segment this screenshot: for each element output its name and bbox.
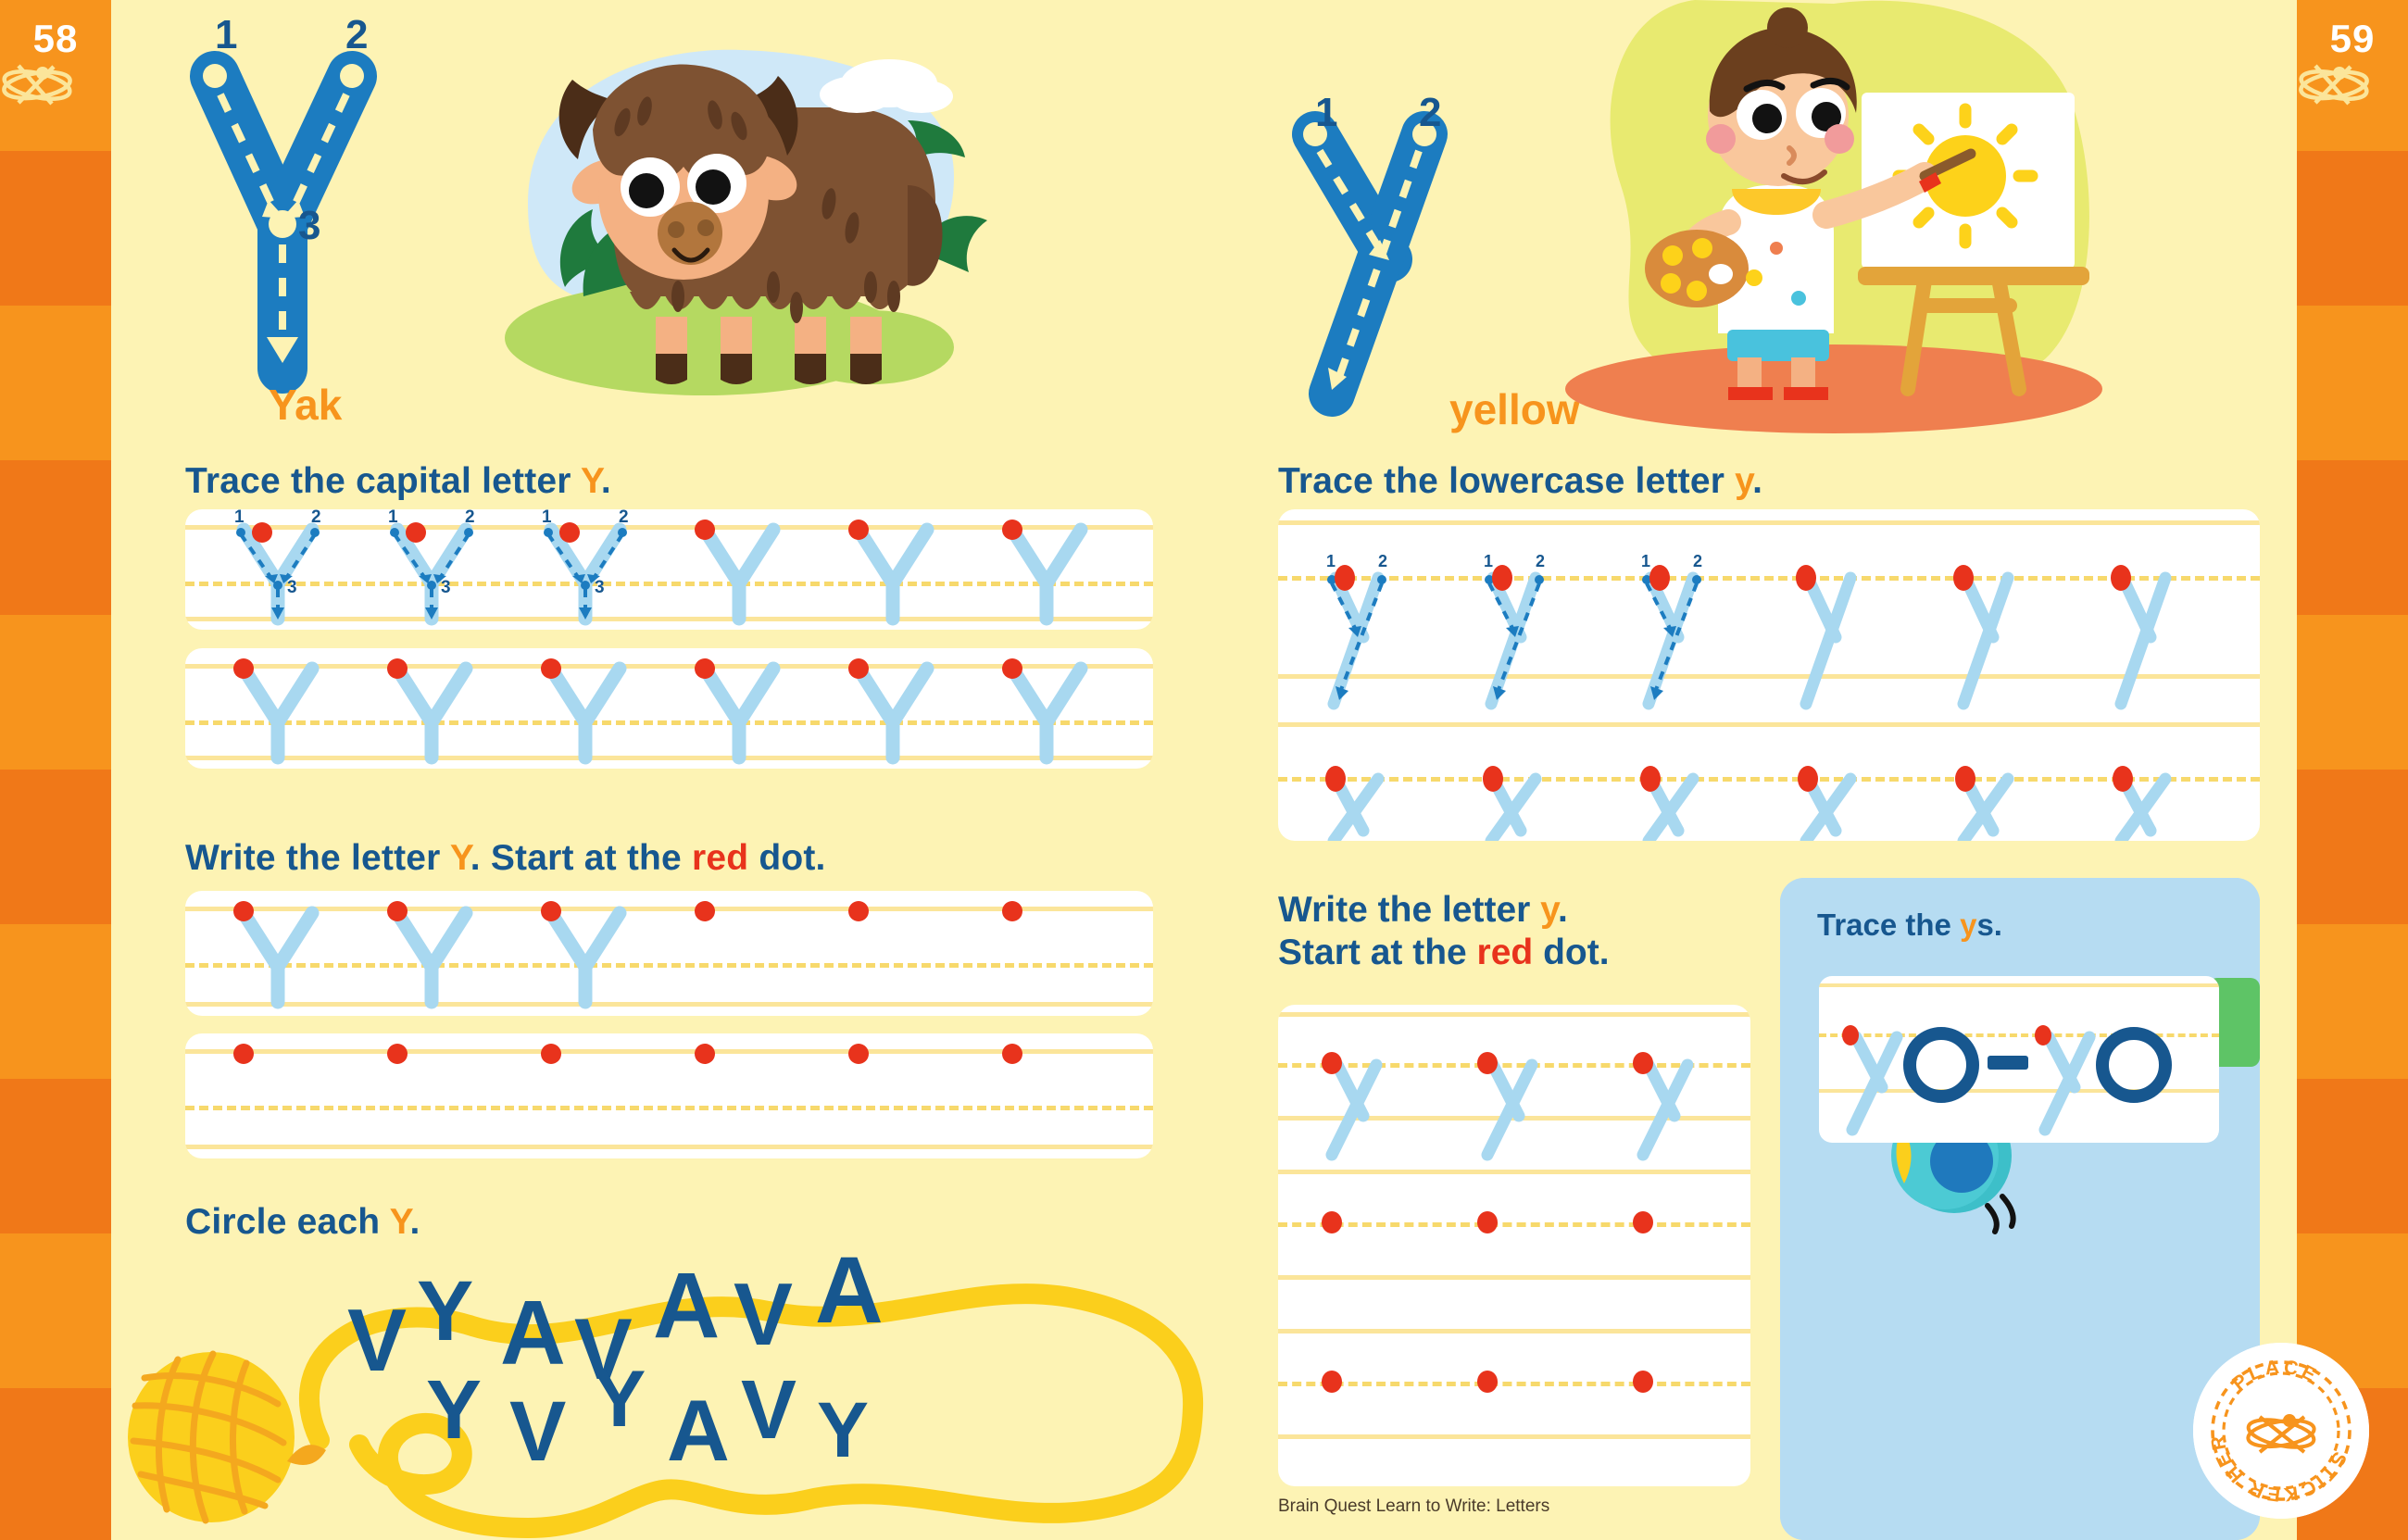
instruction-red-word: red <box>1477 933 1534 972</box>
instruction-letter: y <box>1540 890 1558 930</box>
puzzle-letter[interactable]: V <box>734 1271 793 1359</box>
page-number-left: 58 <box>0 17 111 61</box>
instruction-trace-ys: Trace the ys. <box>1817 908 2002 943</box>
left-edge-stripes: 58 <box>0 0 111 1540</box>
svg-text:3: 3 <box>441 578 451 597</box>
instruction-text-b: . Start at the <box>470 838 692 878</box>
illustration-boy-painting <box>1556 0 2112 435</box>
stroke-number-1: 1 <box>215 15 237 56</box>
puzzle-letter[interactable]: Y <box>817 1391 869 1469</box>
svg-text:2: 2 <box>465 509 475 527</box>
page-number-right: 59 <box>2297 17 2408 61</box>
instruction-text-d: dot. <box>1533 933 1609 972</box>
svg-text:3: 3 <box>287 578 297 597</box>
instruction-text-a: Write the letter <box>1278 890 1540 930</box>
brain-quest-star-logo <box>0 57 111 111</box>
instruction-text-b: . <box>1558 890 1568 930</box>
svg-text:1: 1 <box>1641 552 1650 570</box>
instruction-letter: Y <box>581 461 601 501</box>
instruction-text-a: Write the letter <box>185 838 450 878</box>
instruction-line-2: Start at the red dot. <box>1278 932 1610 974</box>
instruction-write-capital: Write the letter Y. Start at the red dot… <box>185 838 826 879</box>
brain-quest-star-logo <box>2297 57 2408 111</box>
instruction-write-lowercase: Write the letter y. Start at the red dot… <box>1278 889 1610 973</box>
panel-trace-ys: Trace the ys. <box>1780 878 2260 1540</box>
instruction-red-word: red <box>692 838 748 878</box>
svg-text:1: 1 <box>388 509 398 527</box>
practice-box-trace-capital-row2[interactable] <box>185 648 1153 769</box>
practice-box-trace-capital-row1[interactable]: 1 2 3 1 2 3 <box>185 509 1153 630</box>
instruction-text-b: . <box>1752 461 1762 501</box>
instruction-trace-capital: Trace the capital letter Y. <box>185 461 611 502</box>
puzzle-letter[interactable]: A <box>500 1287 566 1378</box>
instruction-text-c: dot. <box>748 838 825 878</box>
instruction-trace-lowercase: Trace the lowercase letter y. <box>1278 461 1762 502</box>
svg-text:1: 1 <box>542 509 552 527</box>
practice-box-yoyo-word[interactable] <box>1819 976 2219 1143</box>
puzzle-letter[interactable]: Y <box>417 1269 473 1354</box>
place-sticker-badge[interactable]: PLACE STICKER HERE <box>2193 1343 2369 1519</box>
svg-text:1: 1 <box>1326 552 1336 570</box>
letter-word-yak: Yak <box>269 380 342 430</box>
puzzle-letter[interactable]: Y <box>426 1369 482 1452</box>
instruction-letter: Y <box>450 838 470 878</box>
instruction-text-a: Trace the capital letter <box>185 461 581 501</box>
worksheet-spread: 58 59 <box>0 0 2408 1540</box>
puzzle-letter[interactable]: A <box>815 1243 884 1337</box>
svg-text:2: 2 <box>1536 552 1545 570</box>
stroke-number-2: 2 <box>345 15 368 56</box>
instruction-text-b: . <box>601 461 611 501</box>
practice-box-write-capital-row1[interactable] <box>185 891 1153 1016</box>
book-footer: Brain Quest Learn to Write: Letters <box>1278 1496 1549 1517</box>
puzzle-letter[interactable]: V <box>509 1389 566 1474</box>
left-page: 1 2 3 Yak <box>111 0 1260 1540</box>
puzzle-letter[interactable]: A <box>667 1387 730 1474</box>
svg-text:2: 2 <box>1378 552 1387 570</box>
instruction-letter: y <box>1735 461 1752 501</box>
svg-text:1: 1 <box>1484 552 1493 570</box>
svg-text:2: 2 <box>1693 552 1702 570</box>
illustration-yak <box>472 19 972 435</box>
right-edge-stripes: 59 <box>2297 0 2408 1540</box>
instruction-text-a: Trace the lowercase letter <box>1278 461 1735 501</box>
practice-box-trace-lowercase[interactable]: 1 2 1 2 1 2 <box>1278 509 2260 841</box>
instruction-line-1: Write the letter y. <box>1278 889 1610 932</box>
stroke-guide-capital-y <box>176 19 389 407</box>
instruction-letter: y <box>1960 908 1976 942</box>
instruction-text-a: Trace the <box>1817 908 1960 942</box>
stroke-guide-lowercase-y <box>1278 97 1482 431</box>
practice-box-write-lowercase[interactable] <box>1278 1005 1750 1486</box>
puzzle-letter[interactable]: A <box>653 1259 720 1352</box>
stroke-number-1: 1 <box>1315 93 1337 133</box>
svg-text:2: 2 <box>619 509 629 527</box>
svg-text:1: 1 <box>234 509 245 527</box>
svg-text:2: 2 <box>311 509 321 527</box>
puzzle-letter[interactable]: Y <box>593 1359 646 1439</box>
puzzle-letter[interactable]: V <box>741 1369 796 1452</box>
instruction-text-b: s. <box>1976 908 2002 942</box>
stroke-number-2: 2 <box>1419 93 1441 133</box>
instruction-text-c: Start at the <box>1278 933 1477 972</box>
right-page: 1 2 yellow <box>1260 0 2297 1540</box>
stroke-number-3: 3 <box>298 206 320 246</box>
puzzle-letter[interactable]: V <box>347 1296 407 1385</box>
svg-text:3: 3 <box>595 578 605 597</box>
practice-box-write-capital-row2[interactable] <box>185 1033 1153 1158</box>
